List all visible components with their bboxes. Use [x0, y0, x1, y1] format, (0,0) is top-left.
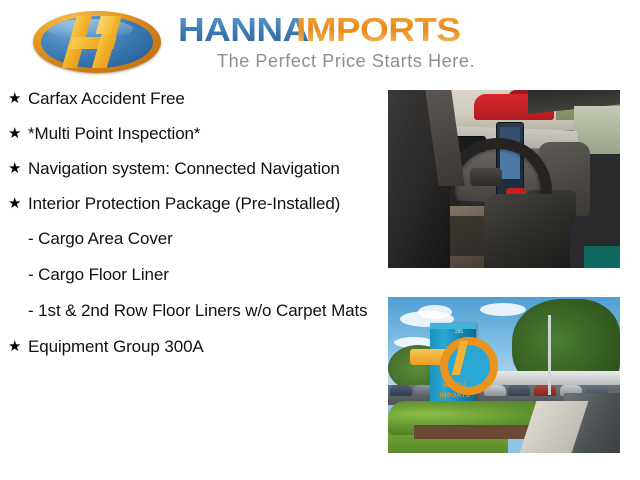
steering-wheel-hub — [470, 168, 502, 186]
cloud — [418, 305, 452, 319]
door-panel-accent — [584, 246, 620, 268]
vehicle-interior-photo[interactable] — [388, 90, 620, 268]
driver-seat — [484, 194, 570, 268]
list-item-label: - Cargo Floor Liner — [28, 264, 376, 286]
star-icon: ★ — [8, 88, 28, 110]
list-item-label: - 1st & 2nd Row Floor Liners w/o Carpet … — [28, 300, 376, 322]
list-item: ★ Carfax Accident Free — [0, 88, 380, 110]
sign-address-number: 285 — [446, 329, 472, 335]
sign-text-hanna: HANNA — [434, 383, 476, 389]
sign-text-imports: IMPORTS — [434, 393, 476, 399]
list-item-label: Navigation system: Connected Navigation — [28, 158, 376, 180]
light-pole — [548, 315, 551, 395]
list-item: ★ *Multi Point Inspection* — [0, 123, 380, 145]
list-item-label: *Multi Point Inspection* — [28, 123, 376, 145]
logo-h-monogram — [41, 16, 153, 68]
list-item: ★ Interior Protection Package (Pre-Insta… — [0, 193, 380, 215]
parked-vehicle — [534, 385, 556, 396]
cloud — [480, 303, 526, 316]
logo-tagline: The Perfect Price Starts Here. — [217, 51, 475, 72]
list-item-label: - Cargo Area Cover — [28, 228, 376, 250]
vehicle-feature-list: ★ Carfax Accident Free ★ *Multi Point In… — [0, 88, 380, 371]
parked-vehicle — [508, 385, 530, 396]
star-icon: ★ — [8, 158, 28, 180]
list-item-label: Carfax Accident Free — [28, 88, 376, 110]
star-icon: ★ — [8, 123, 28, 145]
parked-vehicle — [390, 385, 412, 396]
logo-wordmark: HANNA IMPORTS — [178, 13, 443, 49]
hanna-imports-oval-logo — [33, 11, 161, 73]
list-item: - Cargo Area Cover — [0, 228, 380, 250]
list-item: - Cargo Floor Liner — [0, 264, 380, 286]
dealership-sign-photo[interactable]: 285 HANNA IMPORTS — [388, 297, 620, 453]
list-item-label: Interior Protection Package (Pre-Install… — [28, 193, 376, 215]
star-icon: ★ — [8, 336, 28, 358]
page-header: HANNA IMPORTS The Perfect Price Starts H… — [0, 0, 640, 84]
list-item: ★ Navigation system: Connected Navigatio… — [0, 158, 380, 180]
star-icon: ★ — [8, 193, 28, 215]
logo-word-hanna: HANNA — [178, 13, 309, 47]
list-item: ★ Equipment Group 300A — [0, 336, 380, 358]
list-item-label: Equipment Group 300A — [28, 336, 376, 358]
list-item: - 1st & 2nd Row Floor Liners w/o Carpet … — [0, 300, 380, 322]
logo-word-imports: IMPORTS — [296, 13, 460, 47]
